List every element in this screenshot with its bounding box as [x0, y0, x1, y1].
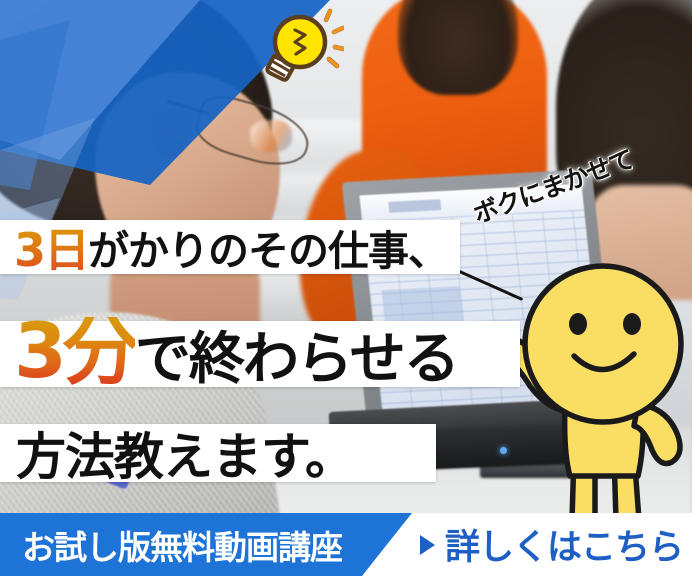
mascot-character	[496, 236, 692, 536]
trial-badge-label: お試し版無料動画講座	[0, 521, 342, 569]
promo-banner: ボクにまかせて 3日 がかりのその仕事、 3分 で終わらせる	[0, 0, 692, 576]
details-link-label: 詳しくはこちら	[445, 519, 683, 570]
mascot-eye-left	[569, 313, 587, 335]
details-link[interactable]: 詳しくはこちら	[420, 513, 683, 576]
headline-band-3: 方法教えます。	[0, 424, 436, 482]
mascot-eye-right	[623, 313, 641, 335]
bottom-cta-bar[interactable]: お試し版無料動画講座 詳しくはこちら	[0, 513, 692, 576]
play-triangle-icon	[420, 535, 435, 555]
headline-3-rest: 方法教えます。	[16, 417, 354, 489]
trial-badge[interactable]: お試し版無料動画講座	[0, 513, 412, 576]
lightbulb-icon	[258, 6, 344, 82]
headline-band-2: 3分 で終わらせる	[0, 321, 520, 387]
headline-1-accent: 3日	[14, 214, 88, 280]
photo-person-orange-hair	[398, 0, 518, 95]
headline-1-rest: がかりのその仕事、	[88, 217, 448, 277]
headline-band-1: 3日 がかりのその仕事、	[0, 220, 460, 274]
headline-2-accent: 3分	[14, 317, 135, 385]
headline-2-rest: で終わらせる	[135, 314, 458, 395]
